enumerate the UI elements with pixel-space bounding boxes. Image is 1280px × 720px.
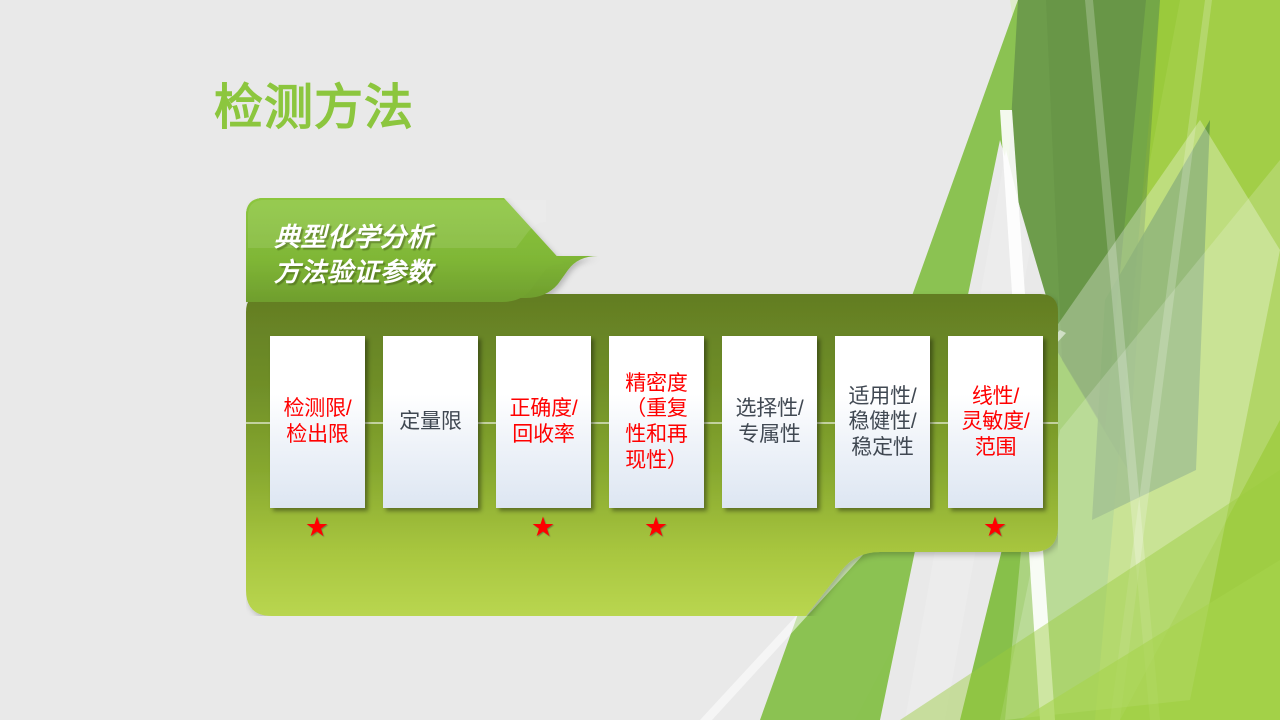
star-icon: ★ [530,514,556,540]
validation-parameters-panel: 典型化学分析 方法验证参数 检测限/ 检出限 定量限 正确度/ 回收率 精密度 … [246,198,1058,616]
decor-dark-green-top-2 [1046,0,1160,470]
parameter-card[interactable]: 线性/ 灵敏度/ 范围 [948,336,1043,508]
page-title: 检测方法 [214,68,414,139]
star-marker-row: ★ ★ ★ ★ [270,514,1058,544]
decor-white-streak-3 [1110,0,1212,720]
slide-canvas: 检测方法 [0,0,1280,720]
parameter-card[interactable]: 精密度 （重复 性和再 现性） [609,336,704,508]
parameter-card-label: 精密度 （重复 性和再 现性） [625,371,687,473]
parameter-card-label: 选择性/ 专属性 [735,396,803,447]
parameter-card[interactable]: 检测限/ 检出限 [270,336,365,508]
decor-white-streak-2 [1085,0,1160,720]
decor-bottom-sweep-2 [1020,560,1280,720]
star-icon: ★ [643,514,669,540]
parameter-card[interactable]: 适用性/ 稳健性/ 稳定性 [835,336,930,508]
decor-bright-green-field-2 [1045,0,1280,720]
parameter-card-label: 线性/ 灵敏度/ 范围 [961,384,1029,461]
decor-deep-green-mid [1092,120,1210,520]
star-icon: ★ [982,514,1008,540]
parameter-card[interactable]: 选择性/ 专属性 [722,336,817,508]
parameter-card-label: 定量限 [399,409,461,435]
parameter-card-label: 适用性/ 稳健性/ 稳定性 [848,384,916,461]
parameter-card[interactable]: 正确度/ 回收率 [496,336,591,508]
parameter-card-label: 正确度/ 回收率 [509,396,577,447]
parameter-card[interactable]: 定量限 [383,336,478,508]
parameter-card-row: 检测限/ 检出限 定量限 正确度/ 回收率 精密度 （重复 性和再 现性） 选择… [270,336,1058,508]
star-icon: ★ [304,514,330,540]
parameter-card-label: 检测限/ 检出限 [283,396,351,447]
panel-tab-label: 典型化学分析 方法验证参数 [274,220,524,289]
